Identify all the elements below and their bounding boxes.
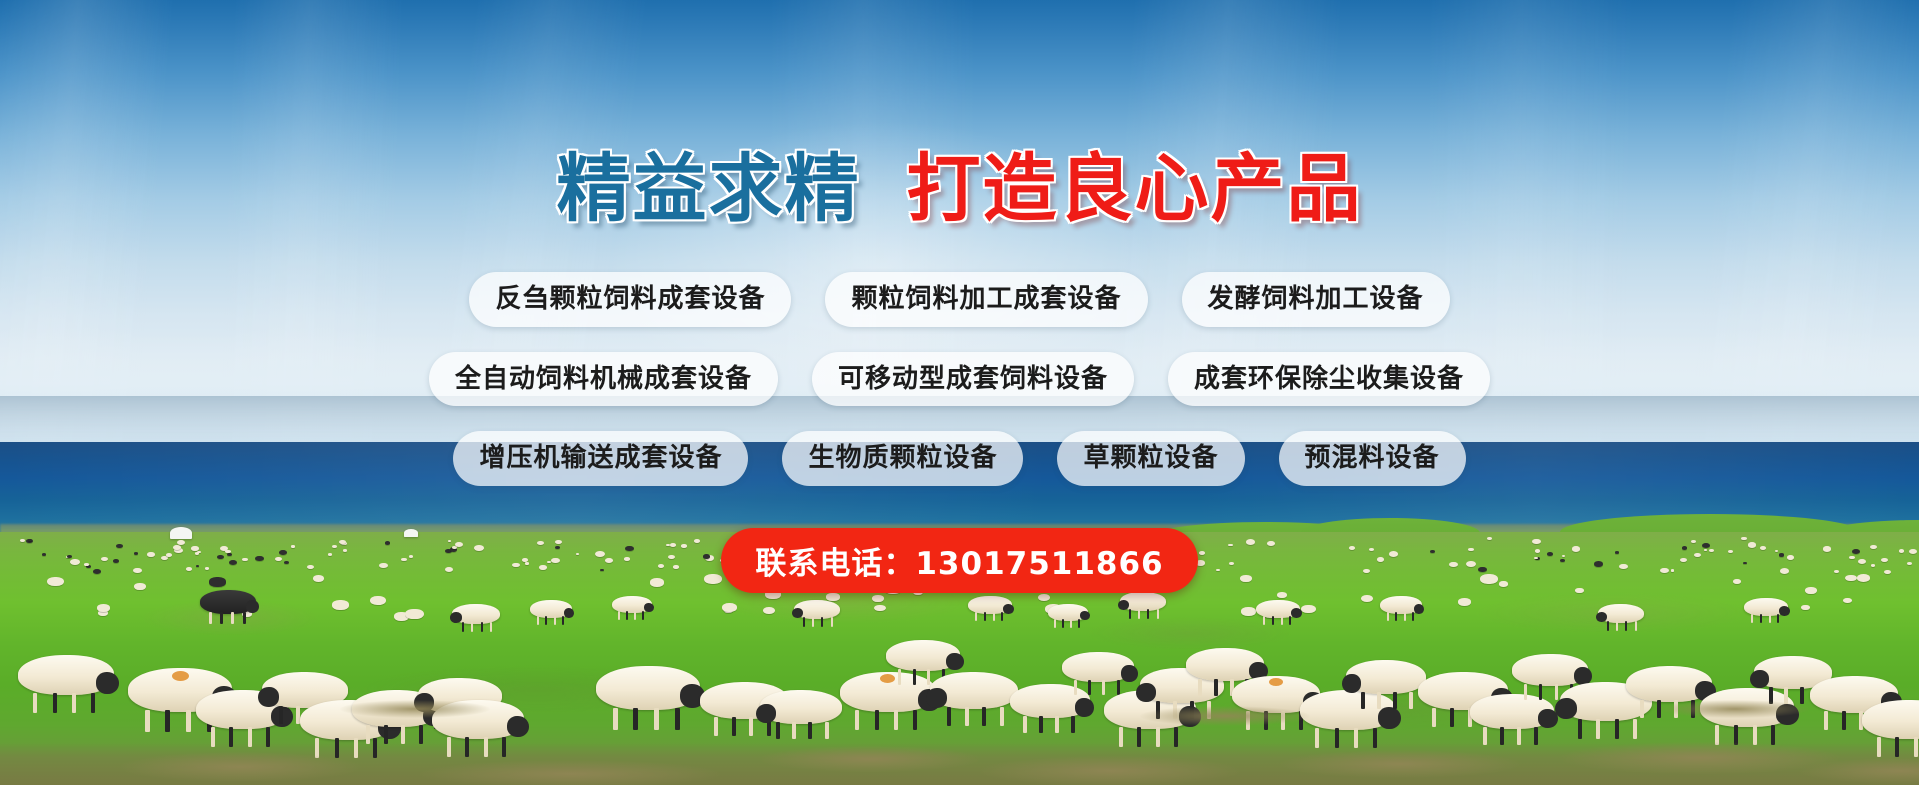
product-pill[interactable]: 成套环保除尘收集设备 (1168, 352, 1490, 407)
product-row-1: 反刍颗粒饲料成套设备 颗粒饲料加工成套设备 发酵饲料加工设备 (469, 272, 1449, 327)
product-row-2: 全自动饲料机械成套设备 可移动型成套饲料设备 成套环保除尘收集设备 (429, 352, 1490, 407)
product-pill[interactable]: 预混料设备 (1279, 431, 1466, 486)
page-title: 精益求精 打造良心产品 (557, 152, 1363, 226)
product-pill[interactable]: 全自动饲料机械成套设备 (429, 352, 778, 407)
product-pill[interactable]: 颗粒饲料加工成套设备 (825, 272, 1147, 327)
headline-red-text: 打造良心产品 (907, 152, 1363, 226)
product-pill[interactable]: 发酵饲料加工设备 (1182, 272, 1450, 327)
product-pill[interactable]: 反刍颗粒饲料成套设备 (469, 272, 791, 327)
product-category-list: 反刍颗粒饲料成套设备 颗粒饲料加工成套设备 发酵饲料加工设备 全自动饲料机械成套… (429, 272, 1490, 486)
product-row-3: 增压机输送成套设备 生物质颗粒设备 草颗粒设备 预混料设备 (453, 431, 1465, 486)
promo-banner: 精益求精 打造良心产品 反刍颗粒饲料成套设备 颗粒饲料加工成套设备 发酵饲料加工… (0, 0, 1919, 785)
product-pill[interactable]: 可移动型成套饲料设备 (812, 352, 1134, 407)
product-pill[interactable]: 增压机输送成套设备 (453, 431, 748, 486)
product-pill[interactable]: 草颗粒设备 (1057, 431, 1244, 486)
banner-content: 精益求精 打造良心产品 反刍颗粒饲料成套设备 颗粒饲料加工成套设备 发酵饲料加工… (0, 0, 1919, 785)
contact-phone-badge[interactable]: 联系电话：13017511866 (721, 528, 1197, 593)
product-pill[interactable]: 生物质颗粒设备 (782, 431, 1023, 486)
headline-blue-text: 精益求精 (557, 152, 861, 226)
